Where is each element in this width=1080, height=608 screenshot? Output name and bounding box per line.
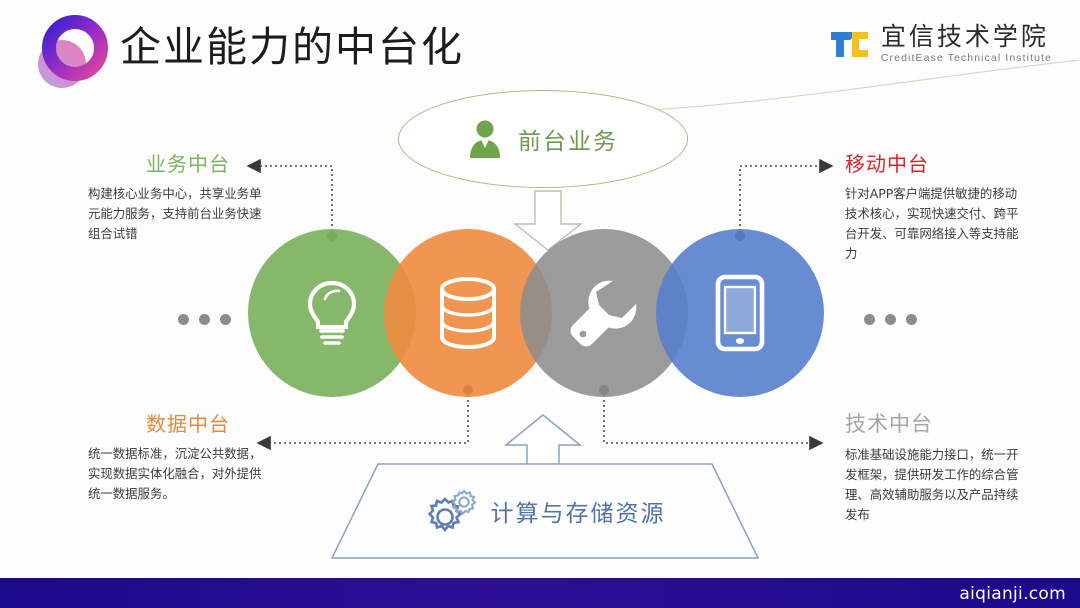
dot <box>885 314 896 325</box>
foundation-label: 计算与存储资源 <box>491 494 666 528</box>
foundation-content: 计算与存储资源 <box>330 462 760 560</box>
mobile-body: 针对APP客户端提供敏捷的移动技术核心，实现快速交付、跨平台开发、可靠网络接入等… <box>845 184 1025 264</box>
overlapping-circles-logo <box>30 14 112 94</box>
dot <box>220 314 231 325</box>
capability-circle-mobile[interactable] <box>656 229 824 397</box>
mobile-phone-icon <box>713 273 767 353</box>
database-icon <box>435 275 501 351</box>
footer-bar <box>0 578 1080 608</box>
brand-name-en: CreditEase Technical Institute <box>881 53 1052 64</box>
dot <box>199 314 210 325</box>
business-body: 构建核心业务中心，共享业务单元能力服务，支持前台业务快速组合试错 <box>88 184 263 244</box>
gears-icon <box>425 487 477 535</box>
tech-body: 标准基础设施能力接口，统一开发框架，提供研发工作的综合管理、高效辅助服务以及产品… <box>845 445 1025 525</box>
watermark-text: aiqianji.com <box>959 584 1066 604</box>
data-body: 统一数据标准，沉淀公共数据，实现数据实体化融合，对外提供统一数据服务。 <box>88 444 263 504</box>
data-title: 数据中台 <box>88 408 263 437</box>
dot <box>178 314 189 325</box>
slide-canvas: 企业能力的中台化 宜信技术学院 CreditEase Technical Ins… <box>0 0 1080 608</box>
tech-title: 技术中台 <box>845 408 1025 438</box>
user-person-icon <box>468 119 502 159</box>
dot <box>864 314 875 325</box>
text-block-tech: 技术中台 标准基础设施能力接口，统一开发框架，提供研发工作的综合管理、高效辅助服… <box>845 408 1025 525</box>
text-block-mobile: 移动中台 针对APP客户端提供敏捷的移动技术核心，实现快速交付、跨平台开发、可靠… <box>845 148 1025 264</box>
text-block-business: 业务中台 构建核心业务中心，共享业务单元能力服务，支持前台业务快速组合试错 <box>88 148 263 244</box>
mobile-title: 移动中台 <box>845 148 1025 177</box>
tc-monogram-icon <box>828 27 872 61</box>
front-office-ellipse[interactable]: 前台业务 <box>398 90 688 188</box>
wrench-icon <box>566 275 642 351</box>
brand-lockup: 宜信技术学院 CreditEase Technical Institute <box>828 24 1052 64</box>
page-title: 企业能力的中台化 <box>120 16 464 78</box>
business-title: 业务中台 <box>88 148 263 177</box>
dot <box>906 314 917 325</box>
brand-name-cn: 宜信技术学院 <box>881 24 1052 49</box>
ellipsis-dots-left <box>178 314 231 325</box>
lightbulb-icon <box>301 277 363 349</box>
ellipsis-dots-right <box>864 314 917 325</box>
front-office-label: 前台业务 <box>518 122 618 156</box>
text-block-data: 数据中台 统一数据标准，沉淀公共数据，实现数据实体化融合，对外提供统一数据服务。 <box>88 408 263 504</box>
